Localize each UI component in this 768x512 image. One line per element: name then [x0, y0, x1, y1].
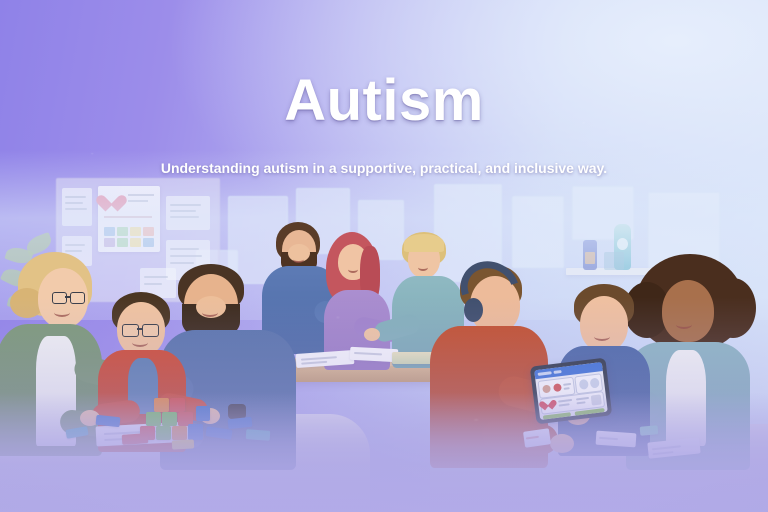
page-title: Autism [0, 72, 768, 130]
foreground-wash [0, 297, 768, 512]
page-subtitle: Understanding autism in a supportive, pr… [0, 160, 768, 176]
hero-banner: Autism Understanding autism in a support… [0, 0, 768, 512]
